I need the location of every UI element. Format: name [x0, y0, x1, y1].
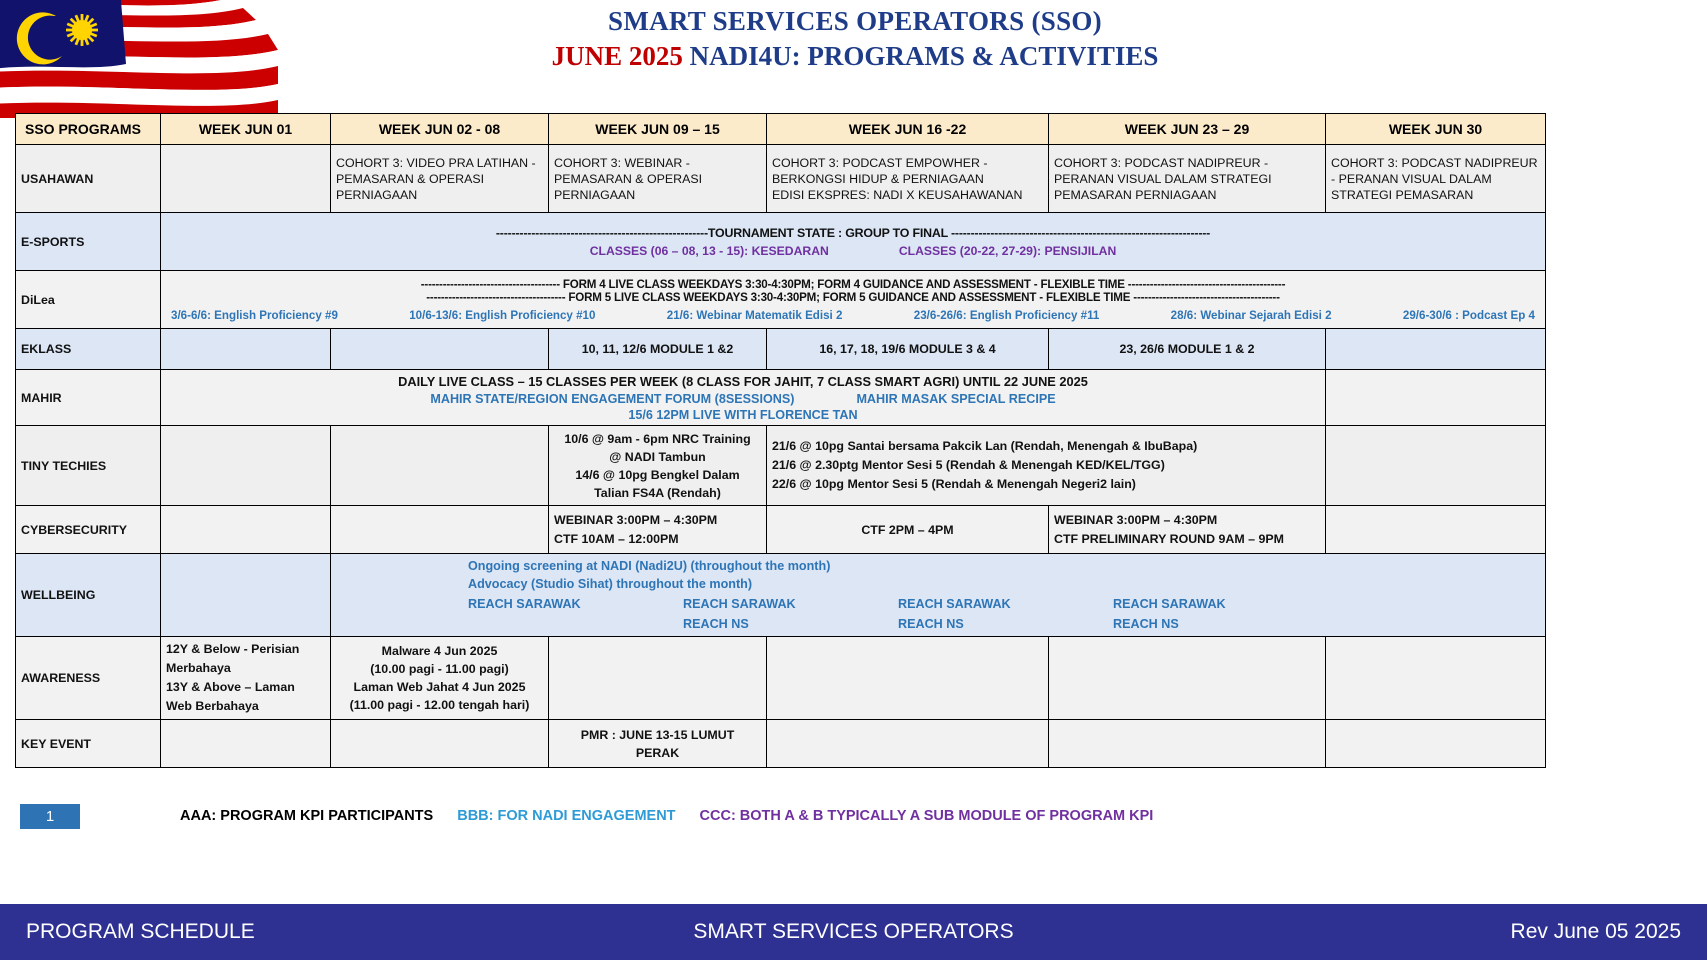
reach-sarawak-4: REACH SARAWAK: [1113, 595, 1328, 613]
cell-usahawan-w6: COHORT 3: PODCAST NADIPREUR - PERANAN VI…: [1326, 145, 1546, 213]
row-label-tiny-techies: TINY TECHIES: [16, 426, 161, 506]
wellbeing-line-2: Advocacy (Studio Sihat) throughout the m…: [336, 575, 1540, 593]
wellbeing-line-1: Ongoing screening at NADI (Nadi2U) (thro…: [336, 557, 1540, 575]
cell-tiny-w3: 10/6 @ 9am - 6pm NRC Training @ NADI Tam…: [549, 426, 767, 506]
awareness-w2-line3: Laman Web Jahat 4 Jun 2025: [336, 678, 543, 696]
mahir-line-1: DAILY LIVE CLASS – 15 CLASSES PER WEEK (…: [166, 374, 1320, 389]
cell-cyber-w5: WEBINAR 3:00PM – 4:30PM CTF PRELIMINARY …: [1049, 506, 1326, 554]
cell-mahir-span: DAILY LIVE CLASS – 15 CLASSES PER WEEK (…: [161, 370, 1326, 426]
table-header-row: SSO PROGRAMS WEEK JUN 01 WEEK JUN 02 - 0…: [16, 114, 1546, 145]
table-row-cybersecurity: CYBERSECURITY WEBINAR 3:00PM – 4:30PM CT…: [16, 506, 1546, 554]
key-event-line1: PMR : JUNE 13-15 LUMUT: [554, 726, 761, 744]
cell-usahawan-w4-line1: COHORT 3: PODCAST EMPOWHER - BERKONGSI H…: [772, 155, 1043, 187]
tiny-w3-line4: Talian FS4A (Rendah): [554, 484, 761, 502]
awareness-w1-line3: 13Y & Above – Laman: [166, 678, 325, 697]
cell-esports-span: ----------------------------------------…: [161, 213, 1546, 271]
dilea-activity-5: 28/6: Webinar Sejarah Edisi 2: [1171, 309, 1332, 322]
awareness-w1-line4: Web Berbahaya: [166, 697, 325, 716]
dilea-activity-3: 21/6: Webinar Matematik Edisi 2: [667, 309, 843, 322]
esports-classes-a: CLASSES (06 – 08, 13 - 15): KESEDARAN: [590, 244, 829, 258]
dilea-activity-6: 29/6-30/6 : Podcast Ep 4: [1403, 309, 1535, 322]
tiny-w3-line1: 10/6 @ 9am - 6pm NRC Training: [554, 430, 761, 448]
cell-awareness-w1: 12Y & Below - Perisian Merbahaya 13Y & A…: [161, 637, 331, 720]
cell-cyber-w6: [1326, 506, 1546, 554]
cell-mahir-w6: [1326, 370, 1546, 426]
cell-dilea-span: -------------------------------------- F…: [161, 271, 1546, 329]
cell-eklass-w2: [331, 329, 549, 370]
mahir-recipe: MAHIR MASAK SPECIAL RECIPE: [856, 392, 1055, 406]
tiny-w3-line2: @ NADI Tambun: [554, 448, 761, 466]
dilea-activities: 3/6-6/6: English Proficiency #9 10/6-13/…: [167, 309, 1539, 322]
cell-cyber-w2: [331, 506, 549, 554]
cell-awareness-w3: [549, 637, 767, 720]
legend-strip: 1 AAA: PROGRAM KPI PARTICIPANTS BBB: FOR…: [15, 797, 1545, 835]
dilea-activity-2: 10/6-13/6: English Proficiency #10: [409, 309, 595, 322]
tiny-w45-line1: 21/6 @ 10pg Santai bersama Pakcik Lan (R…: [772, 437, 1320, 456]
wellbeing-reach-row-1: REACH SARAWAK REACH SARAWAK REACH SARAWA…: [336, 595, 1540, 613]
row-label-usahawan: USAHAWAN: [16, 145, 161, 213]
reach-ns-3: REACH NS: [898, 615, 1113, 633]
col-header-week-jun-23-29: WEEK JUN 23 – 29: [1049, 114, 1326, 145]
title-line-2: JUNE 2025 NADI4U: PROGRAMS & ACTIVITIES: [330, 38, 1380, 74]
mahir-forum: MAHIR STATE/REGION ENGAGEMENT FORUM (8SE…: [430, 392, 794, 406]
cell-eklass-w4: 16, 17, 18, 19/6 MODULE 3 & 4: [767, 329, 1049, 370]
cell-usahawan-w4-line2: EDISI EKSPRES: NADI X KEUSAHAWANAN: [772, 187, 1043, 203]
awareness-w1-line1: 12Y & Below - Perisian: [166, 640, 325, 659]
awareness-w2-line2: (10.00 pagi - 11.00 pagi): [336, 660, 543, 678]
table-row-esports: E-SPORTS -------------------------------…: [16, 213, 1546, 271]
malaysia-flag: [0, 0, 278, 118]
cell-wellbeing-w1: [161, 554, 331, 637]
legend-items: AAA: PROGRAM KPI PARTICIPANTS BBB: FOR N…: [180, 808, 1153, 824]
table-row-usahawan: USAHAWAN COHORT 3: VIDEO PRA LATIHAN - P…: [16, 145, 1546, 213]
dilea-activity-1: 3/6-6/6: English Proficiency #9: [171, 309, 338, 322]
cell-usahawan-w4: COHORT 3: PODCAST EMPOWHER - BERKONGSI H…: [767, 145, 1049, 213]
cell-eklass-w5: 23, 26/6 MODULE 1 & 2: [1049, 329, 1326, 370]
mahir-line-3: 15/6 12PM LIVE WITH FLORENCE TAN: [166, 408, 1320, 422]
row-label-mahir: MAHIR: [16, 370, 161, 426]
cell-tiny-w45: 21/6 @ 10pg Santai bersama Pakcik Lan (R…: [767, 426, 1326, 506]
cell-awareness-w6: [1326, 637, 1546, 720]
cell-key-w6: [1326, 720, 1546, 768]
awareness-w1-line2: Merbahaya: [166, 659, 325, 678]
col-header-programs: SSO PROGRAMS: [16, 114, 161, 145]
title-subject: NADI4U: PROGRAMS & ACTIVITIES: [683, 41, 1159, 71]
cell-eklass-w6: [1326, 329, 1546, 370]
page-title: SMART SERVICES OPERATORS (SSO) JUNE 2025…: [330, 4, 1380, 74]
key-event-line2: PERAK: [554, 744, 761, 762]
legend-ccc: CCC: BOTH A & B TYPICALLY A SUB MODULE O…: [700, 808, 1154, 824]
cell-eklass-w3: 10, 11, 12/6 MODULE 1 &2: [549, 329, 767, 370]
row-label-wellbeing: WELLBEING: [16, 554, 161, 637]
cell-usahawan-w1: [161, 145, 331, 213]
dilea-form4-line: -------------------------------------- F…: [167, 278, 1539, 291]
esports-tournament-line: ----------------------------------------…: [166, 226, 1540, 240]
cell-usahawan-w3: COHORT 3: WEBINAR - PEMASARAN & OPERASI …: [549, 145, 767, 213]
cell-key-w4: [767, 720, 1049, 768]
row-label-cybersecurity: CYBERSECURITY: [16, 506, 161, 554]
cell-usahawan-w5: COHORT 3: PODCAST NADIPREUR - PERANAN VI…: [1049, 145, 1326, 213]
cell-awareness-w5: [1049, 637, 1326, 720]
cell-key-w2: [331, 720, 549, 768]
dilea-form5-line: -------------------------------------- F…: [167, 291, 1539, 304]
cyber-w5-line1: WEBINAR 3:00PM – 4:30PM: [1054, 511, 1320, 530]
footer-bar: SMART SERVICES OPERATORS PROGRAM SCHEDUL…: [0, 904, 1707, 960]
table-row-key-event: KEY EVENT PMR : JUNE 13-15 LUMUT PERAK: [16, 720, 1546, 768]
table-row-dilea: DiLea ----------------------------------…: [16, 271, 1546, 329]
col-header-week-jun-09-15: WEEK JUN 09 – 15: [549, 114, 767, 145]
title-month: JUNE 2025: [552, 41, 683, 71]
cell-key-w3: PMR : JUNE 13-15 LUMUT PERAK: [549, 720, 767, 768]
row-label-awareness: AWARENESS: [16, 637, 161, 720]
cell-wellbeing-span: Ongoing screening at NADI (Nadi2U) (thro…: [331, 554, 1546, 637]
reach-sarawak-3: REACH SARAWAK: [898, 595, 1113, 613]
cell-awareness-w4: [767, 637, 1049, 720]
legend-aaa: AAA: PROGRAM KPI PARTICIPANTS: [180, 808, 433, 824]
mahir-line-2: MAHIR STATE/REGION ENGAGEMENT FORUM (8SE…: [166, 392, 1320, 406]
col-header-week-jun-16-22: WEEK JUN 16 -22: [767, 114, 1049, 145]
row-label-eklass: EKLASS: [16, 329, 161, 370]
footer-right: Rev June 05 2025: [1511, 920, 1681, 944]
cell-tiny-w1: [161, 426, 331, 506]
footer-center: SMART SERVICES OPERATORS: [0, 920, 1707, 944]
schedule-table: SSO PROGRAMS WEEK JUN 01 WEEK JUN 02 - 0…: [15, 113, 1546, 768]
cell-cyber-w1: [161, 506, 331, 554]
esports-classes-b: CLASSES (20-22, 27-29): PENSIJILAN: [899, 244, 1116, 258]
legend-bbb: BBB: FOR NADI ENGAGEMENT: [457, 808, 675, 824]
table-row-eklass: EKLASS 10, 11, 12/6 MODULE 1 &2 16, 17, …: [16, 329, 1546, 370]
cyber-w3-line2: CTF 10AM – 12:00PM: [554, 530, 761, 549]
tiny-w45-line3: 22/6 @ 10pg Mentor Sesi 5 (Rendah & Mene…: [772, 475, 1320, 494]
row-label-key-event: KEY EVENT: [16, 720, 161, 768]
cell-tiny-w6: [1326, 426, 1546, 506]
col-header-week-jun-01: WEEK JUN 01: [161, 114, 331, 145]
cell-key-w1: [161, 720, 331, 768]
cell-cyber-w4: CTF 2PM – 4PM: [767, 506, 1049, 554]
slide-number: 1: [20, 804, 80, 829]
table-row-mahir: MAHIR DAILY LIVE CLASS – 15 CLASSES PER …: [16, 370, 1546, 426]
table-row-tiny-techies: TINY TECHIES 10/6 @ 9am - 6pm NRC Traini…: [16, 426, 1546, 506]
wellbeing-lines: Ongoing screening at NADI (Nadi2U) (thro…: [336, 557, 1540, 633]
esports-classes: CLASSES (06 – 08, 13 - 15): KESEDARAN CL…: [166, 244, 1540, 258]
table-row-awareness: AWARENESS 12Y & Below - Perisian Merbaha…: [16, 637, 1546, 720]
awareness-w2-line1: Malware 4 Jun 2025: [336, 642, 543, 660]
cyber-w5-line2: CTF PRELIMINARY ROUND 9AM – 9PM: [1054, 530, 1320, 549]
cell-key-w5: [1049, 720, 1326, 768]
wellbeing-reach-row-2: REACH NS REACH NS REACH NS: [336, 615, 1540, 633]
col-header-week-jun-02-08: WEEK JUN 02 - 08: [331, 114, 549, 145]
cell-tiny-w2: [331, 426, 549, 506]
cell-eklass-w1: [161, 329, 331, 370]
tiny-w45-line2: 21/6 @ 2.30ptg Mentor Sesi 5 (Rendah & M…: [772, 456, 1320, 475]
reach-ns-1: [468, 615, 683, 633]
reach-ns-4: REACH NS: [1113, 615, 1328, 633]
table-row-wellbeing: WELLBEING Ongoing screening at NADI (Nad…: [16, 554, 1546, 637]
row-label-esports: E-SPORTS: [16, 213, 161, 271]
reach-ns-2: REACH NS: [683, 615, 898, 633]
reach-sarawak-2: REACH SARAWAK: [683, 595, 898, 613]
tiny-w3-line3: 14/6 @ 10pg Bengkel Dalam: [554, 466, 761, 484]
reach-sarawak-1: REACH SARAWAK: [468, 595, 683, 613]
title-line-1: SMART SERVICES OPERATORS (SSO): [330, 4, 1380, 38]
row-label-dilea: DiLea: [16, 271, 161, 329]
awareness-w2-line4: (11.00 pagi - 12.00 tengah hari): [336, 696, 543, 714]
dilea-activity-4: 23/6-26/6: English Proficiency #11: [914, 309, 1100, 322]
cell-awareness-w2: Malware 4 Jun 2025 (10.00 pagi - 11.00 p…: [331, 637, 549, 720]
col-header-week-jun-30: WEEK JUN 30: [1326, 114, 1546, 145]
cell-cyber-w3: WEBINAR 3:00PM – 4:30PM CTF 10AM – 12:00…: [549, 506, 767, 554]
cyber-w3-line1: WEBINAR 3:00PM – 4:30PM: [554, 511, 761, 530]
cell-usahawan-w2: COHORT 3: VIDEO PRA LATIHAN - PEMASARAN …: [331, 145, 549, 213]
